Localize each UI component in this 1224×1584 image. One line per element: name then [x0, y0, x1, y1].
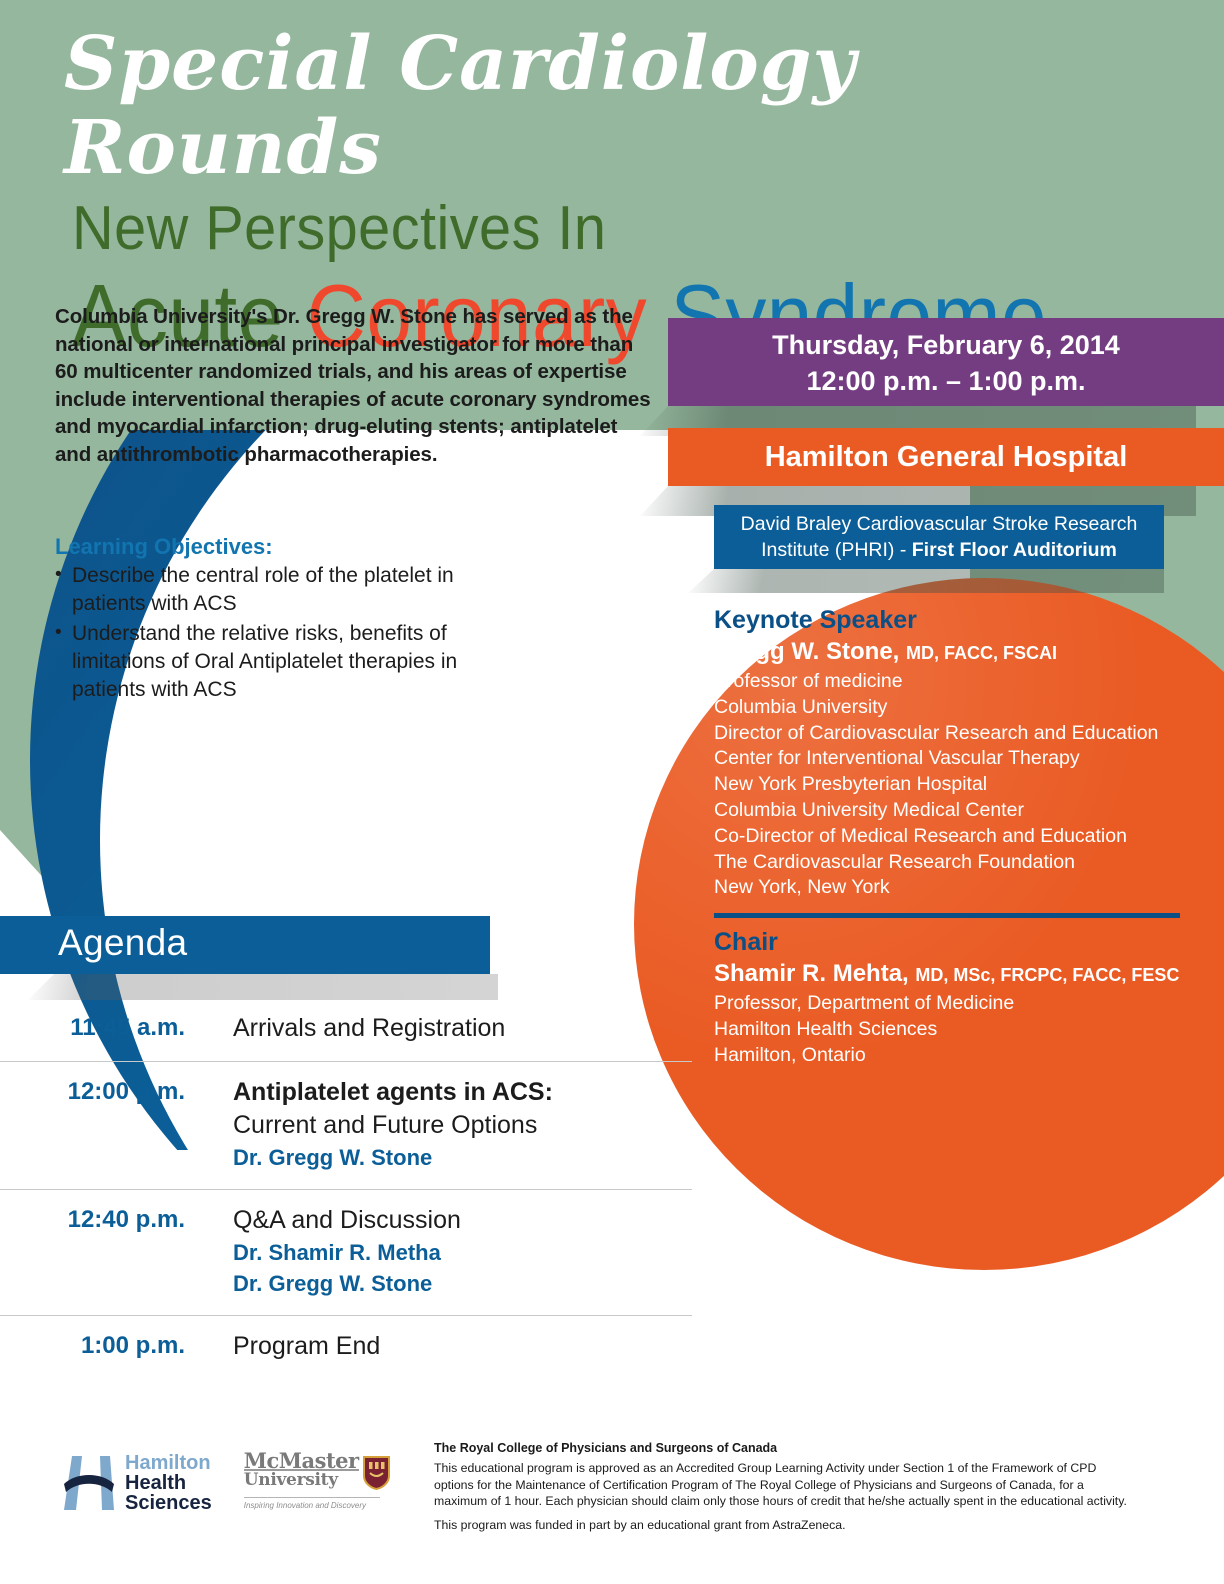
accreditation-paragraph-2: This program was funded in part by an ed… [434, 1517, 1134, 1534]
room-banner: David Braley Cardiovascular Stroke Resea… [714, 505, 1164, 569]
hhs-line-3: Sciences [125, 1493, 212, 1513]
agenda-table: 11:45 a.m. Arrivals and Registration 12:… [0, 998, 692, 1379]
mcmaster-tagline: Inspiring Innovation and Discovery [244, 1497, 380, 1510]
event-room-line1: David Braley Cardiovascular Stroke Resea… [714, 511, 1164, 537]
poster-root: Special Cardiology Rounds New Perspectiv… [0, 0, 1224, 1584]
accreditation-heading: The Royal College of Physicians and Surg… [434, 1440, 1134, 1457]
chair-affiliation: Professor, Department of Medicine [714, 991, 1194, 1017]
headline-script-line: Special Cardiology Rounds [64, 22, 1188, 190]
headline-sub-line: New Perspectives In [72, 194, 1110, 264]
agenda-header-bar: Agenda [0, 916, 490, 974]
event-venue: Hamilton General Hospital [668, 437, 1224, 477]
keynote-affiliation: Center for Interventional Vascular Thera… [714, 746, 1194, 772]
accreditation-paragraph-1: This educational program is approved as … [434, 1460, 1134, 1510]
accreditation-block: The Royal College of Physicians and Surg… [434, 1440, 1134, 1540]
event-time: 12:00 p.m. – 1:00 p.m. [668, 363, 1224, 399]
table-row: 1:00 p.m. Program End [0, 1316, 692, 1379]
agenda-item-title: Q&A and Discussion [233, 1204, 461, 1237]
agenda-description: Program End [185, 1330, 380, 1363]
agenda-item-speaker: Dr. Gregg W. Stone [233, 1268, 461, 1299]
agenda-description: Antiplatelet agents in ACS: Current and … [185, 1076, 553, 1173]
agenda-item-speaker: Dr. Gregg W. Stone [233, 1142, 553, 1173]
keynote-heading: Keynote Speaker [714, 604, 1194, 636]
list-item: Understand the relative risks, benefits … [55, 620, 525, 704]
keynote-affiliation: Co-Director of Medical Research and Educ… [714, 824, 1194, 850]
hamilton-health-sciences-logo: Hamilton Health Sciences [60, 1452, 212, 1514]
mcmaster-university-logo: McMaster University Inspiring Innovation… [244, 1452, 380, 1510]
keynote-affiliation: Director of Cardiovascular Research and … [714, 721, 1194, 747]
learning-objectives-list: Describe the central role of the platele… [55, 562, 525, 706]
hhs-line-2: Health [125, 1473, 212, 1493]
agenda-time: 12:40 p.m. [0, 1204, 185, 1299]
chair-affiliation: Hamilton Health Sciences [714, 1017, 1194, 1043]
hhs-wordmark: Hamilton Health Sciences [125, 1453, 212, 1513]
event-date: Thursday, February 6, 2014 [668, 327, 1224, 363]
learning-objectives-title: Learning Objectives: [55, 534, 273, 560]
mcmaster-line-2: University [244, 1472, 359, 1489]
room-bold: First Floor Auditorium [912, 539, 1117, 561]
agenda-item-title: Program End [233, 1330, 380, 1363]
intro-paragraph: Columbia University's Dr. Gregg W. Stone… [55, 303, 655, 468]
keynote-name-text: Gregg W. Stone, [714, 638, 899, 665]
hhs-mark-icon [60, 1452, 116, 1514]
keynote-affiliation: Professor of medicine [714, 669, 1194, 695]
chair-heading: Chair [714, 926, 1194, 958]
agenda-time: 1:00 p.m. [0, 1330, 185, 1363]
keynote-affiliation: New York Presbyterian Hospital [714, 772, 1194, 798]
agenda-description: Q&A and Discussion Dr. Shamir R. Metha D… [185, 1204, 461, 1299]
table-row: 12:00 p.m. Antiplatelet agents in ACS: C… [0, 1062, 692, 1190]
section-divider [714, 913, 1180, 918]
agenda-item-title: Antiplatelet agents in ACS: [233, 1076, 553, 1109]
chair-name: Shamir R. Mehta, MD, MSc, FRCPC, FACC, F… [714, 958, 1194, 991]
mcmaster-shield-icon [363, 1456, 390, 1490]
agenda-time: 11:45 a.m. [0, 1012, 185, 1045]
agenda-title: Agenda [0, 916, 490, 964]
table-row: 12:40 p.m. Q&A and Discussion Dr. Shamir… [0, 1190, 692, 1316]
keynote-credentials: MD, FACC, FSCAI [906, 643, 1057, 663]
agenda-item-subtitle: Current and Future Options [233, 1109, 553, 1142]
hhs-line-1: Hamilton [125, 1453, 212, 1473]
agenda-bar-shadow [28, 974, 498, 1000]
date-time-banner: Thursday, February 6, 2014 12:00 p.m. – … [668, 318, 1224, 406]
keynote-name: Gregg W. Stone, MD, FACC, FSCAI [714, 636, 1194, 669]
mcmaster-wordmark: McMaster University [244, 1452, 359, 1489]
table-row: 11:45 a.m. Arrivals and Registration [0, 998, 692, 1062]
mcmaster-line-1: McMaster [244, 1452, 359, 1471]
chair-credentials: MD, MSc, FRCPC, FACC, FESC [915, 965, 1179, 985]
list-item: Describe the central role of the platele… [55, 562, 525, 618]
agenda-time: 12:00 p.m. [0, 1076, 185, 1173]
agenda-item-title: Arrivals and Registration [233, 1012, 505, 1045]
event-room-line2: Institute (PHRI) - First Floor Auditoriu… [714, 537, 1164, 563]
logo-row: Hamilton Health Sciences McMaster Univer… [60, 1452, 380, 1514]
chair-affiliation: Hamilton, Ontario [714, 1043, 1194, 1069]
room-plain: Institute (PHRI) - [761, 539, 912, 561]
chair-name-text: Shamir R. Mehta, [714, 960, 909, 987]
speaker-panel: Keynote Speaker Gregg W. Stone, MD, FACC… [714, 604, 1194, 1069]
keynote-affiliation: Columbia University [714, 695, 1194, 721]
keynote-affiliation: The Cardiovascular Research Foundation [714, 850, 1194, 876]
venue-banner: Hamilton General Hospital [668, 428, 1224, 486]
keynote-affiliation: Columbia University Medical Center [714, 798, 1194, 824]
agenda-item-speaker: Dr. Shamir R. Metha [233, 1237, 461, 1268]
keynote-affiliation: New York, New York [714, 875, 1194, 901]
agenda-description: Arrivals and Registration [185, 1012, 505, 1045]
